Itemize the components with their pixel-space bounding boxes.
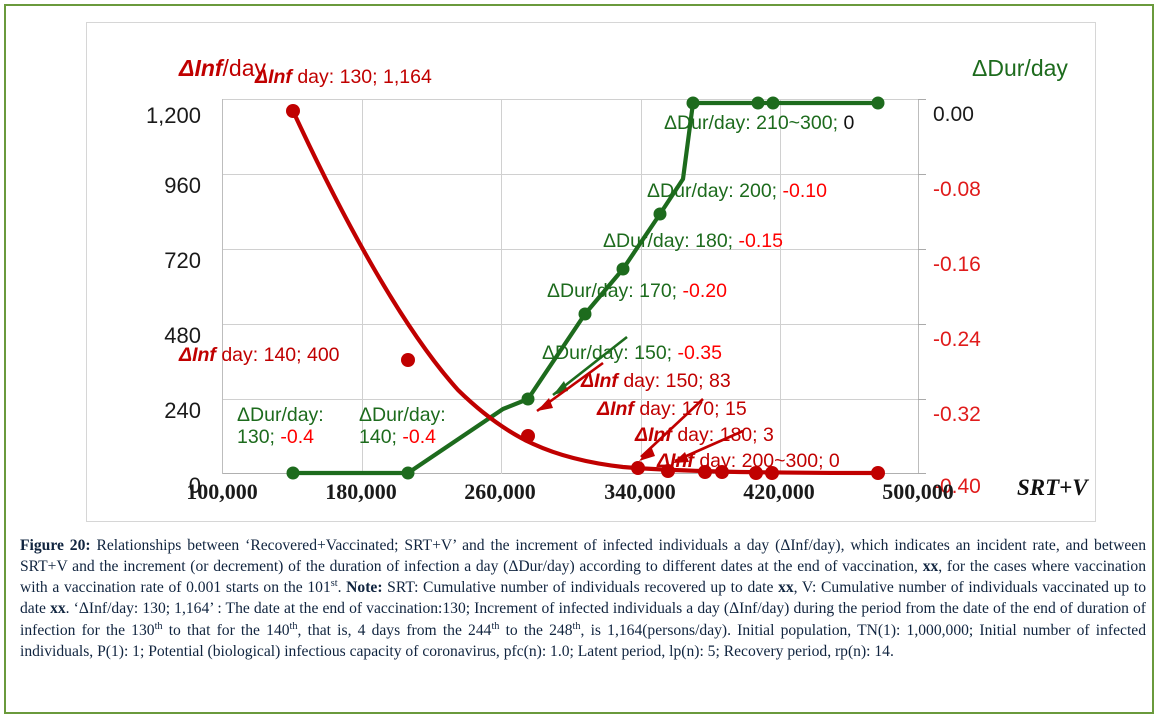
- x-tick-340000: 340,000: [575, 479, 705, 505]
- caption-note-6: to the 248: [499, 622, 572, 639]
- annotation-inf-200-300-text: day: 200~300; 0: [694, 450, 840, 472]
- y-tick-720: 720: [109, 248, 201, 274]
- annotation-dur-130: ΔDur/day: 130; -0.4: [237, 405, 357, 449]
- annotation-dur-140-day: 140;: [359, 426, 397, 448]
- annotation-inf-170-text: day: 170; 15: [634, 398, 747, 420]
- caption-sup-2: th: [155, 621, 163, 632]
- x-tick-500000: 500,000: [853, 479, 983, 505]
- y-axis-left-title-symbol: ΔInf: [179, 55, 223, 81]
- annotation-inf-170-symbol: ΔInf: [597, 398, 634, 420]
- caption-note-5: , that is, 4 days from the 244: [298, 622, 492, 639]
- caption-sup-1: st: [331, 578, 338, 589]
- annotation-dur-200-value: -0.10: [783, 180, 827, 202]
- caption-note-1: SRT: Cumulative number of individuals re…: [383, 580, 779, 597]
- annotation-dur-140-value: -0.4: [402, 426, 436, 448]
- caption-note-4: to that for the 140: [163, 622, 290, 639]
- annotation-dur-200-label: ΔDur/day: 200;: [647, 180, 777, 202]
- x-tick-260000: 260,000: [435, 479, 565, 505]
- caption-xx-1: xx: [923, 558, 939, 575]
- annotation-dur-150-label: ΔDur/day: 150;: [542, 342, 672, 364]
- annotation-dur-210-300: ΔDur/day: 210~300; 0: [664, 113, 854, 135]
- y2-tick-000: 0.00: [933, 103, 1033, 127]
- annotation-inf-200-300-symbol: ΔInf: [657, 450, 694, 472]
- x-tick-100000: 100,000: [157, 479, 287, 505]
- annotation-dur-130-label: ΔDur/day:: [237, 404, 324, 426]
- annotation-dur-150: ΔDur/day: 150; -0.35: [542, 343, 722, 365]
- y2-tick-024: -0.24: [933, 328, 1033, 352]
- annotation-dur-200: ΔDur/day: 200; -0.10: [647, 181, 827, 203]
- annotation-inf-150: ΔInf day: 150; 83: [581, 371, 731, 393]
- caption-body-3: .: [338, 580, 347, 597]
- annotation-dur-140-label: ΔDur/day:: [359, 404, 446, 426]
- annotation-inf-140-text: day: 140; 400: [216, 344, 340, 366]
- y-axis-left-title: ΔInf/day: [179, 55, 266, 82]
- chart-card: ΔInf/day ΔDur/day SRT+V 1,200 960 720 48…: [86, 22, 1096, 522]
- y2-tick-032: -0.32: [933, 403, 1033, 427]
- annotation-inf-180: ΔInf day: 180; 3: [635, 425, 774, 447]
- y-tick-1200: 1,200: [109, 103, 201, 129]
- caption-xx-2: xx: [778, 580, 794, 597]
- annotation-dur-180-value: -0.15: [739, 230, 783, 252]
- y2-tick-016: -0.16: [933, 253, 1033, 277]
- y-tick-240: 240: [109, 398, 201, 424]
- annotation-dur-180-label: ΔDur/day: 180;: [603, 230, 733, 252]
- annotation-inf-170: ΔInf day: 170; 15: [597, 399, 747, 421]
- figure-frame: ΔInf/day ΔDur/day SRT+V 1,200 960 720 48…: [4, 4, 1154, 714]
- x-tick-420000: 420,000: [714, 479, 844, 505]
- annotation-dur-130-day: 130;: [237, 426, 275, 448]
- x-tick-180000: 180,000: [296, 479, 426, 505]
- annotation-inf-150-text: day: 150; 83: [618, 370, 731, 392]
- annotation-dur-130-value: -0.4: [280, 426, 314, 448]
- annotation-inf-130: ΔInf day: 130; 1,164: [255, 67, 432, 89]
- annotation-dur-210-300-label: ΔDur/day: 210~300;: [664, 112, 838, 134]
- caption-note-label: Note:: [346, 580, 382, 597]
- caption-sup-3: th: [290, 621, 298, 632]
- annotation-inf-200-300: ΔInf day: 200~300; 0: [657, 451, 840, 473]
- annotation-dur-170: ΔDur/day: 170; -0.20: [547, 281, 727, 303]
- y-tick-960: 960: [109, 173, 201, 199]
- caption-sup-5: th: [573, 621, 581, 632]
- figure-caption: Figure 20: Relationships between ‘Recove…: [20, 536, 1146, 663]
- annotation-inf-140: ΔInf day: 140; 400: [179, 345, 340, 367]
- y-axis-right-title: ΔDur/day: [972, 55, 1068, 82]
- annotation-dur-210-300-value: 0: [843, 112, 854, 134]
- annotation-dur-140: ΔDur/day: 140; -0.4: [359, 405, 479, 449]
- annotation-inf-180-symbol: ΔInf: [635, 424, 672, 446]
- annotation-inf-140-symbol: ΔInf: [179, 344, 216, 366]
- annotation-dur-170-label: ΔDur/day: 170;: [547, 280, 677, 302]
- y2-tick-008: -0.08: [933, 178, 1033, 202]
- annotation-inf-130-text: day: 130; 1,164: [292, 66, 432, 88]
- annotation-dur-170-value: -0.20: [683, 280, 727, 302]
- annotation-inf-130-symbol: ΔInf: [255, 66, 292, 88]
- caption-xx-3: xx: [50, 600, 66, 617]
- annotation-dur-150-value: -0.35: [678, 342, 722, 364]
- annotation-inf-150-symbol: ΔInf: [581, 370, 618, 392]
- annotation-dur-180: ΔDur/day: 180; -0.15: [603, 231, 783, 253]
- annotation-inf-180-text: day: 180; 3: [672, 424, 774, 446]
- caption-figure-number: Figure 20:: [20, 537, 91, 554]
